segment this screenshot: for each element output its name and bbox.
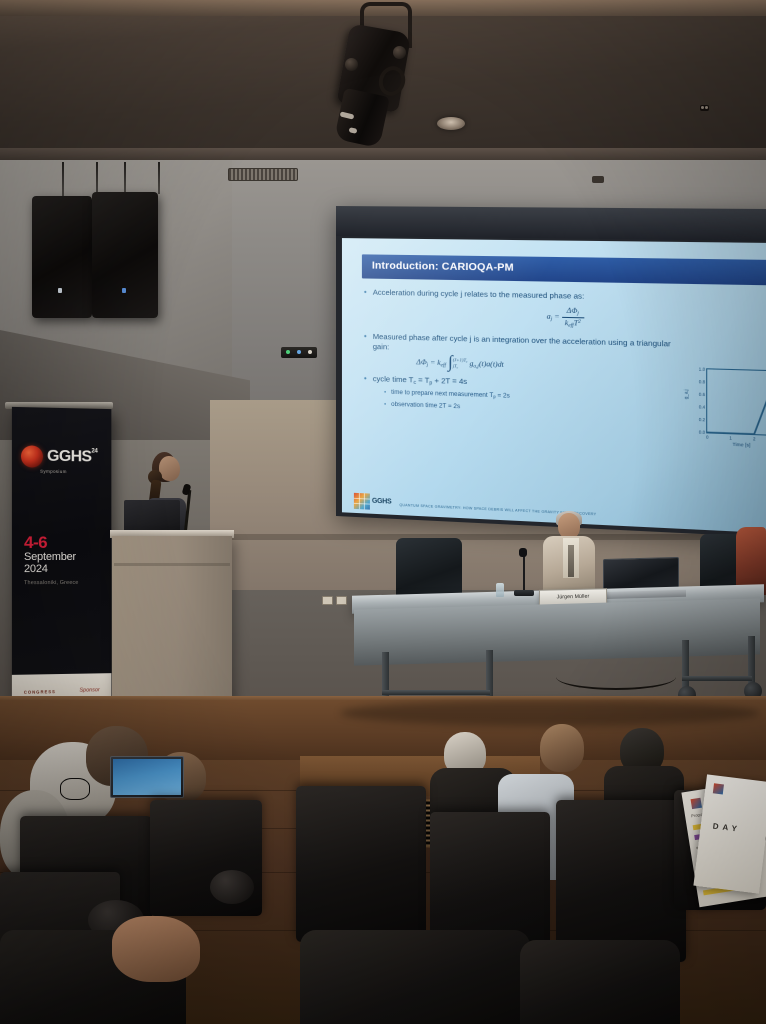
- slide-footer-logo-text: GGHS: [372, 497, 392, 507]
- desk-microphone-base: [514, 590, 534, 596]
- inset-chart-triangular-gain: g_a,j 1.0 0.8 0.6 0.4 0.2 0.0 0 1 2: [682, 363, 766, 457]
- banner-year: 2024: [24, 563, 111, 575]
- banner-sponsor-left: CONGRESS: [24, 689, 56, 695]
- recessed-downlight-icon: [437, 117, 465, 130]
- desk-microphone-stem: [523, 554, 525, 594]
- bullet-dot-icon: •: [364, 288, 367, 299]
- program-handout-front[interactable]: DAY: [693, 774, 766, 893]
- auditorium-photo: Introduction: CARIOQA-PM • Acceleration …: [0, 0, 766, 1024]
- audience-laptop-screen: [113, 759, 181, 795]
- audience-body-front-right: [520, 940, 680, 1024]
- sensor-led-blue: [297, 350, 301, 354]
- speaker-wire-right-2: [158, 162, 160, 194]
- wall-vent-icon: [228, 168, 298, 181]
- water-bottle: [496, 583, 504, 597]
- banner-logo-row: GGHS24: [21, 445, 111, 468]
- chart-ytick-2: 0.4: [699, 404, 707, 410]
- chart-series-path: [707, 369, 766, 435]
- spotlight-knob-secondary: [393, 46, 406, 59]
- projection-screen: Introduction: CARIOQA-PM • Acceleration …: [336, 206, 766, 538]
- banner-dates-block: 4-6 September 2024 Thessaloniki, Greece: [24, 534, 111, 586]
- slide-footer-logo: GGHS: [354, 493, 392, 511]
- sub-bullet-dot-icon: ▪: [384, 389, 386, 399]
- slide-subbullet-2-text: observation time 2T = 2s: [391, 401, 460, 413]
- handout-front-logo-icon: [713, 783, 724, 794]
- bullet-dot-icon-3: •: [364, 374, 367, 385]
- formula-1-lhs-sub: j: [551, 316, 553, 322]
- banner-subtitle: Symposium: [40, 469, 111, 475]
- handout-logo-icon: [691, 798, 702, 809]
- formula-1-eq: =: [554, 312, 559, 321]
- audience-body-front-center: [300, 930, 530, 1024]
- table-floor-shadow: [340, 700, 760, 726]
- audience-laptop: [110, 756, 184, 798]
- chart-ytick-3: 0.6: [699, 391, 707, 397]
- formula-1-numerator: ΔΦj: [562, 305, 584, 318]
- formula-1-fraction: ΔΦj keffT2: [562, 305, 584, 329]
- banner-city: Thessaloniki, Greece: [24, 579, 111, 585]
- chairperson-tie: [568, 545, 574, 577]
- seatback-center-3: [556, 800, 686, 962]
- speaker-wire-right: [124, 162, 126, 194]
- wall-vent-small-icon: [592, 176, 604, 183]
- chart-xtick-2: 2: [753, 434, 756, 442]
- table-stretcher-right: [682, 676, 752, 681]
- seat-armrest-2: [210, 870, 254, 904]
- presenter-head: [159, 456, 180, 481]
- handout-heading: DAY: [712, 822, 741, 834]
- wall-trim-line: [210, 534, 766, 540]
- speaker-led-indicator: [58, 288, 62, 293]
- formula-1-denominator: keffT2: [562, 318, 584, 330]
- chart-ytick-1: 0.2: [699, 417, 707, 423]
- sensor-led-white: [308, 350, 312, 354]
- podium-laptop: [124, 500, 180, 532]
- slide-bullet-1-text: Acceleration during cycle j relates to t…: [373, 288, 585, 303]
- slide-bullet-3-text: cycle time Tc = Tp + 2T = 4s: [373, 374, 467, 388]
- banner-logo-text-block: GGHS24: [47, 448, 98, 467]
- banner-logo-text: GGHS: [47, 448, 91, 466]
- seatback-center-1: [296, 786, 426, 942]
- integral-limits: (J+1)Tc jTc: [453, 357, 468, 370]
- screen-surface: Introduction: CARIOQA-PM • Acceleration …: [342, 238, 766, 534]
- banner-month: September: [24, 551, 111, 563]
- nameplate-text: Jürgen Müller: [557, 594, 590, 601]
- chart-plot-area: 1.0 0.8 0.6 0.4 0.2 0.0 0 1 2: [706, 368, 766, 436]
- floor-cable: [556, 664, 676, 690]
- audience-limb-foreground: [112, 916, 200, 982]
- slide-title: Introduction: CARIOQA-PM: [372, 260, 514, 276]
- chart-ytick-4: 0.8: [699, 379, 707, 385]
- wall-socket-1: [322, 596, 333, 605]
- audience-head-center-2: [540, 724, 584, 772]
- head-table-apron: [354, 598, 760, 665]
- banner-logo-year: 24: [91, 448, 97, 454]
- chart-xtick-1: 1: [729, 433, 732, 441]
- chart-ylabel: g_a,j: [683, 389, 689, 399]
- banner-sponsor-right: Sponsor: [79, 687, 99, 693]
- wall-socket-2: [336, 596, 347, 605]
- formula-2-lhs: ΔΦ: [416, 357, 426, 366]
- table-chair-left: [396, 538, 462, 600]
- desk-microphone-icon: [519, 548, 527, 557]
- screen-top-rail: [336, 206, 766, 241]
- hanging-loudspeaker-right: [92, 192, 158, 318]
- slide-title-bar: Introduction: CARIOQA-PM: [362, 254, 766, 285]
- spotlight-knob: [345, 58, 358, 71]
- slide-formula-1: aj = ΔΦj keffT2: [364, 301, 766, 334]
- podium-trim-groove: [114, 563, 230, 566]
- bullet-dot-icon-2: •: [364, 331, 367, 351]
- table-stretcher-left: [382, 690, 490, 695]
- banner-globe-icon: [21, 445, 43, 467]
- speaker-led-indicator-blue: [122, 288, 126, 293]
- speaker-wire-left: [62, 162, 64, 198]
- sensor-led-green: [286, 350, 290, 354]
- sub-bullet-dot-icon-2: ▪: [384, 401, 386, 411]
- banner-days: 4-6: [24, 534, 111, 551]
- chart-ytick-5: 1.0: [699, 366, 707, 372]
- chart-xlabel: Time [s]: [733, 442, 751, 449]
- gghs-logo-icon: [354, 493, 370, 510]
- rollup-banner: GGHS24 Symposium 4-6 September 2024 Thes…: [12, 407, 111, 709]
- chart-xtick-0: 0: [706, 432, 708, 440]
- ceiling-fixture-icon: [700, 105, 709, 111]
- wall-sensor-bar: [281, 347, 317, 358]
- hanging-loudspeaker-left: [32, 196, 92, 318]
- slide-bullet-2: • Measured phase after cycle j is an int…: [364, 331, 677, 359]
- presentation-slide: Introduction: CARIOQA-PM • Acceleration …: [342, 238, 766, 534]
- audience-glasses-icon: [60, 778, 90, 800]
